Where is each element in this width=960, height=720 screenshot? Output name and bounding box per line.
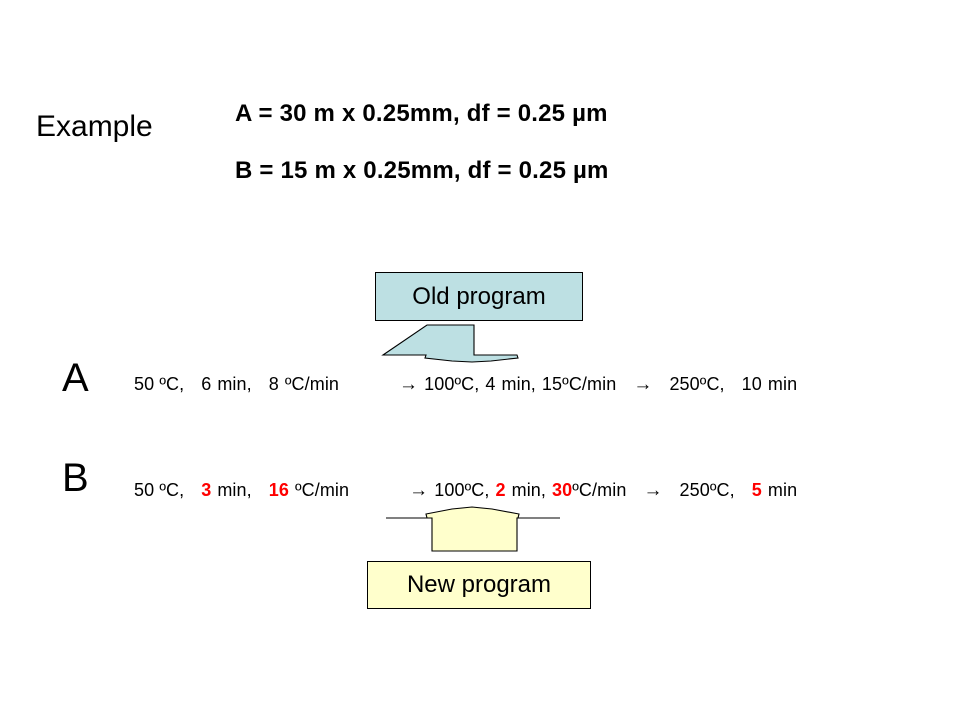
row-b-stage1-hold-unit: min, [217, 480, 251, 500]
row-b-stage1-ramp-unit: ºC/min [295, 480, 349, 500]
row-b-stage1-hold: 3 [201, 480, 211, 500]
row-b-arrow-2: → [643, 480, 662, 502]
row-a-stage3-temp: 250ºC, [669, 374, 724, 394]
row-a-stage1-ramp-unit: ºC/min [285, 374, 339, 394]
row-b-stage3-hold: 5 [752, 480, 762, 500]
program-row-b: 50 ºC,3min,16ºC/min→100ºC,2min,30ºC/min→… [134, 479, 797, 502]
slide-canvas: Example A = 30 m x 0.25mm, df = 0.25 µm … [0, 0, 960, 720]
row-b-stage2-hold: 2 [495, 480, 505, 500]
row-a-stage2-ramp: 15 [542, 374, 562, 394]
program-row-a: 50 ºC,6min,8ºC/min→100ºC,4min,15ºC/min→2… [134, 373, 797, 396]
new-program-label: New program [407, 571, 551, 599]
row-a-stage1-hold-unit: min, [217, 374, 251, 394]
row-a-stage2-ramp-unit: ºC/min [562, 374, 616, 394]
new-program-box[interactable]: New program [367, 561, 591, 609]
row-letter-b: B [62, 457, 89, 499]
old-program-box[interactable]: Old program [375, 272, 583, 321]
old-program-label: Old program [412, 283, 545, 311]
row-a-stage2-hold: 4 [485, 374, 495, 394]
row-b-stage2-hold-unit: min, [512, 480, 546, 500]
row-b-stage2-temp: 100ºC, [434, 480, 489, 500]
row-b-stage1-ramp: 16 [269, 480, 289, 500]
row-a-stage1-ramp: 8 [269, 374, 279, 394]
arrow-up-icon [380, 505, 564, 553]
column-spec-a: A = 30 m x 0.25mm, df = 0.25 µm [235, 100, 608, 128]
row-a-arrow-1: → [399, 374, 418, 396]
row-a-stage3-hold-unit: min [768, 374, 797, 394]
row-a-stage3-hold: 10 [742, 374, 762, 394]
row-a-arrow-2: → [633, 374, 652, 396]
row-letter-a: A [62, 357, 89, 399]
row-b-stage3-hold-unit: min [768, 480, 797, 500]
row-a-stage1-temp: 50 ºC, [134, 374, 184, 394]
row-b-stage2-ramp-unit: ºC/min [572, 480, 626, 500]
row-b-stage3-temp: 250ºC, [680, 480, 735, 500]
row-b-stage1-temp: 50 ºC, [134, 480, 184, 500]
page-title: Example [36, 110, 153, 144]
arrow-down-icon [380, 324, 564, 366]
row-b-stage2-ramp: 30 [552, 480, 572, 500]
row-a-stage2-hold-unit: min, [502, 374, 536, 394]
row-a-stage1-hold: 6 [201, 374, 211, 394]
row-a-stage2-temp: 100ºC, [424, 374, 479, 394]
row-b-arrow-1: → [409, 480, 428, 502]
column-spec-b: B = 15 m x 0.25mm, df = 0.25 µm [235, 157, 609, 185]
